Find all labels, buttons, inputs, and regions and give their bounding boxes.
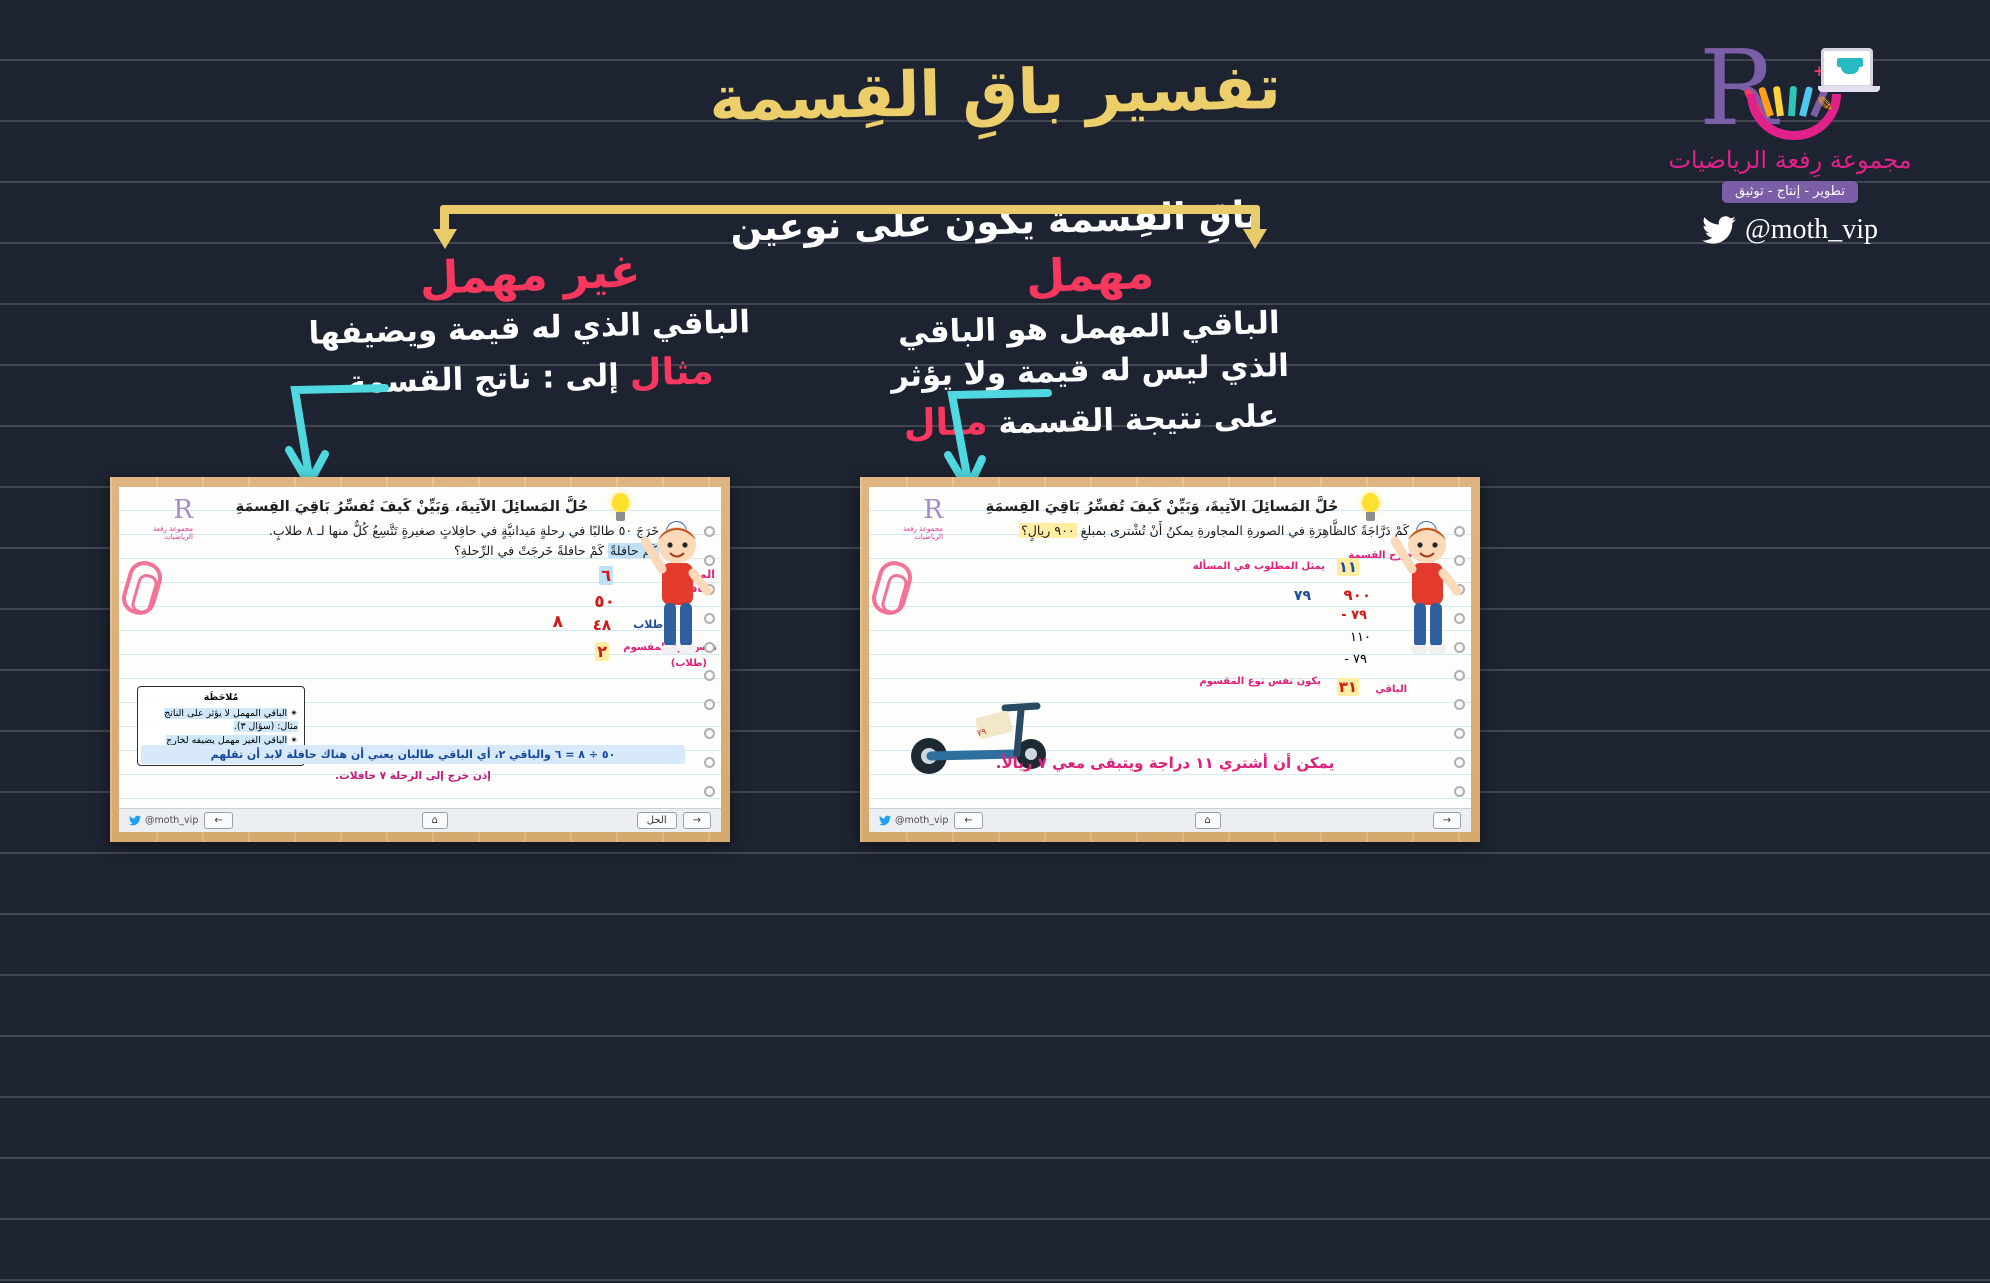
footer-prev-button[interactable]: ← [204, 812, 232, 829]
slide-card-question-2[interactable]: R مجموعة رِفعة الرياضيات حُلَّ المَسائِل… [110, 477, 730, 842]
footer-handle-text: @moth_vip [145, 815, 198, 826]
slide-mini-logo: R مجموعة رِفعة الرياضيات [885, 495, 943, 535]
mini-logo-letter: R [173, 495, 193, 525]
yellow-bracket-connector [440, 205, 1260, 247]
remainder-type-label: يكون نفس نوع المقسوم [1199, 676, 1321, 687]
footer-solve-button[interactable]: الحل [637, 812, 677, 829]
footer-next-button[interactable]: → [683, 812, 711, 829]
slide-left-question: ٢ خَرَجَ ٥٠ طالبًا في رحلةٍ مَيدانيَّةٍ … [119, 519, 721, 560]
division-dividend: ٥٠ [594, 592, 615, 612]
slide-right-question: ٣ كَمْ دَرَّاجَةً كالظَّاهِرَةِ في الصور… [869, 519, 1471, 542]
footer-home-button[interactable]: ⌂ [422, 812, 448, 829]
slide-right-workspace: ٧٩ خارج القسمة ١١ يمثل المطلوب في المسأل… [869, 542, 1471, 808]
branch-right-body: الباقي المهمل هو الباقي الذي ليس له قيمة… [808, 300, 1371, 451]
slide-right-answer: يمكن أن أشتري ١١ دراجة ويتبقى معي ٧ ريال… [899, 754, 1431, 772]
division-step-2: ١١٠ [1350, 630, 1371, 645]
footer-twitter[interactable]: @moth_vip [129, 815, 198, 826]
division-dividend: ٩٠٠ [1344, 586, 1371, 604]
lightbulb-icon [612, 493, 629, 521]
quotient-label: يمثل المطلوب في المسألة [1193, 561, 1325, 572]
note-title: مُلاحَظَة [144, 691, 298, 705]
footer-next-button[interactable]: → [1433, 812, 1461, 829]
slide-left-workspace: المطلوب (حافلة) ٦ ٥٠ ٨ ٤٨ ٢ طلاب نفس نوع… [119, 560, 721, 808]
remainder-value: ٣١ [1337, 678, 1359, 696]
slide-right-header: حُلَّ المَسائِلَ الآتِيةَ، وَبَيِّنْ كَي… [887, 499, 1437, 515]
branch-non-negligible: غير مهمل الباقي الذي له قيمة ويضيفها مثا… [250, 248, 810, 401]
question-text: خَرَجَ ٥٠ طالبًا في رحلةٍ مَيدانيَّةٍ في… [269, 521, 659, 560]
student-character-illustration [1391, 525, 1465, 675]
footer-prev-button[interactable]: ← [954, 812, 982, 829]
branch-left-heading: غير مهمل [249, 238, 811, 311]
required-value: ٦ [599, 566, 613, 585]
branch-negligible: مهمل الباقي المهمل هو الباقي الذي ليس له… [810, 248, 1370, 444]
division-subtract: ٤٨ [593, 616, 611, 634]
note-item-1: ✴ الباقي المهمل لا يؤثر على الناتج مثال:… [144, 707, 298, 734]
student-character-illustration [641, 525, 715, 675]
logo-arabic-name: مجموعة رِفعة الرياضيات [1630, 146, 1950, 174]
footer-handle-text: @moth_vip [895, 815, 948, 826]
footer-home-button[interactable]: ⌂ [1195, 812, 1221, 829]
division-divisor: ٧٩ [1294, 588, 1311, 604]
slide-left-header: حُلَّ المَسائِلَ الآتِيةَ، وَبَيِّنْ كَي… [137, 499, 687, 515]
slide-left-answer-1: ٥٠ ÷ ٨ = ٦ والباقي ٢، أي الباقي طالبان ي… [141, 745, 685, 764]
slide-mini-logo: R مجموعة رِفعة الرياضيات [135, 495, 193, 535]
highlight-amount: ٩٠٠ ريالٍ؟ [1019, 523, 1077, 538]
division-divisor: ٨ [553, 612, 563, 632]
slide-right-footer: @moth_vip ← ⌂ → [869, 808, 1471, 832]
mini-logo-text: مجموعة رِفعة الرياضيات [135, 525, 193, 541]
footer-twitter[interactable]: @moth_vip [879, 815, 948, 826]
remainder-name: الباقي [1375, 684, 1407, 695]
slide-left-footer: @moth_vip ← ⌂ الحل → [119, 808, 721, 832]
division-step-3: ٧٩ - [1344, 652, 1367, 667]
branch-right-heading: مهمل [809, 238, 1371, 311]
question-text: كَمْ دَرَّاجَةً كالظَّاهِرَةِ في الصورةِ… [1019, 521, 1409, 541]
quotient-value: ١١ [1337, 558, 1359, 576]
branch-left-example-label: مثال [629, 349, 714, 394]
division-step-1: ٧٩ - [1341, 608, 1367, 623]
slide-left-answer-2: إذن خرج إلى الرحلة ٧ حافلات. [141, 770, 685, 782]
lightbulb-icon [1362, 493, 1379, 521]
mini-logo-text: مجموعة رِفعة الرياضيات [885, 525, 943, 541]
mini-logo-letter: R [923, 495, 943, 525]
division-remainder: ٢ [595, 642, 609, 661]
slide-card-question-3[interactable]: R مجموعة رِفعة الرياضيات حُلَّ المَسائِل… [860, 477, 1480, 842]
